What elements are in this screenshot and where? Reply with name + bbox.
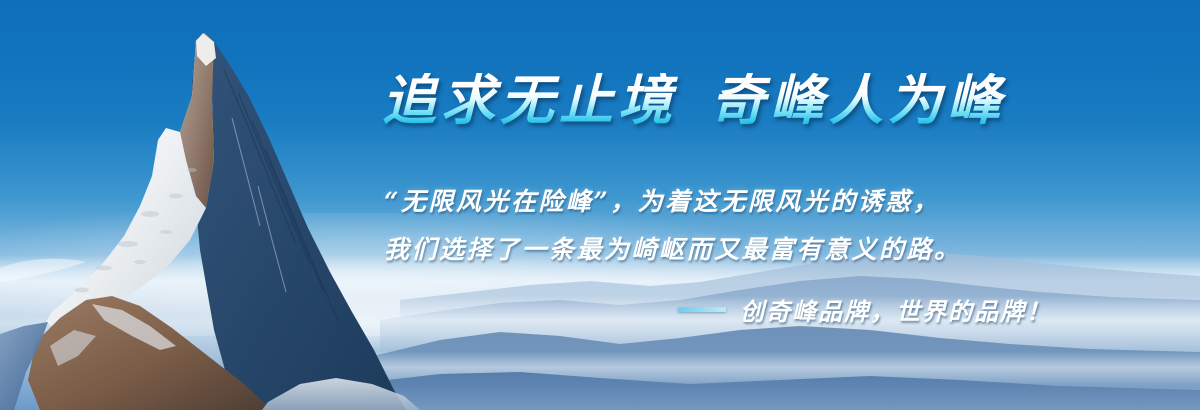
- attribution-text: 创奇峰品牌，世界的品牌！: [740, 292, 1052, 327]
- main-snow-peak: [0, 33, 420, 410]
- subtitle-line-2: 我们选择了一条最为崎岖而又最富有意义的路。: [384, 230, 1064, 266]
- hero-banner: 追求无止境奇峰人为峰 “无限风光在险峰”，为着这无限风光的诱惑， 我们选择了一条…: [0, 0, 1200, 410]
- headline-part-2: 奇峰人为峰: [711, 68, 1006, 132]
- headline-part-1: 追求无止境: [382, 68, 677, 132]
- subtitle-line-1: “无限风光在险峰”，为着这无限风光的诱惑，: [384, 182, 1064, 218]
- attribution: 创奇峰品牌，世界的品牌！: [678, 292, 1052, 327]
- banner-copy: 追求无止境奇峰人为峰 “无限风光在险峰”，为着这无限风光的诱惑， 我们选择了一条…: [370, 0, 1070, 410]
- em-dash-icon: [678, 307, 726, 312]
- headline: 追求无止境奇峰人为峰: [382, 73, 1006, 127]
